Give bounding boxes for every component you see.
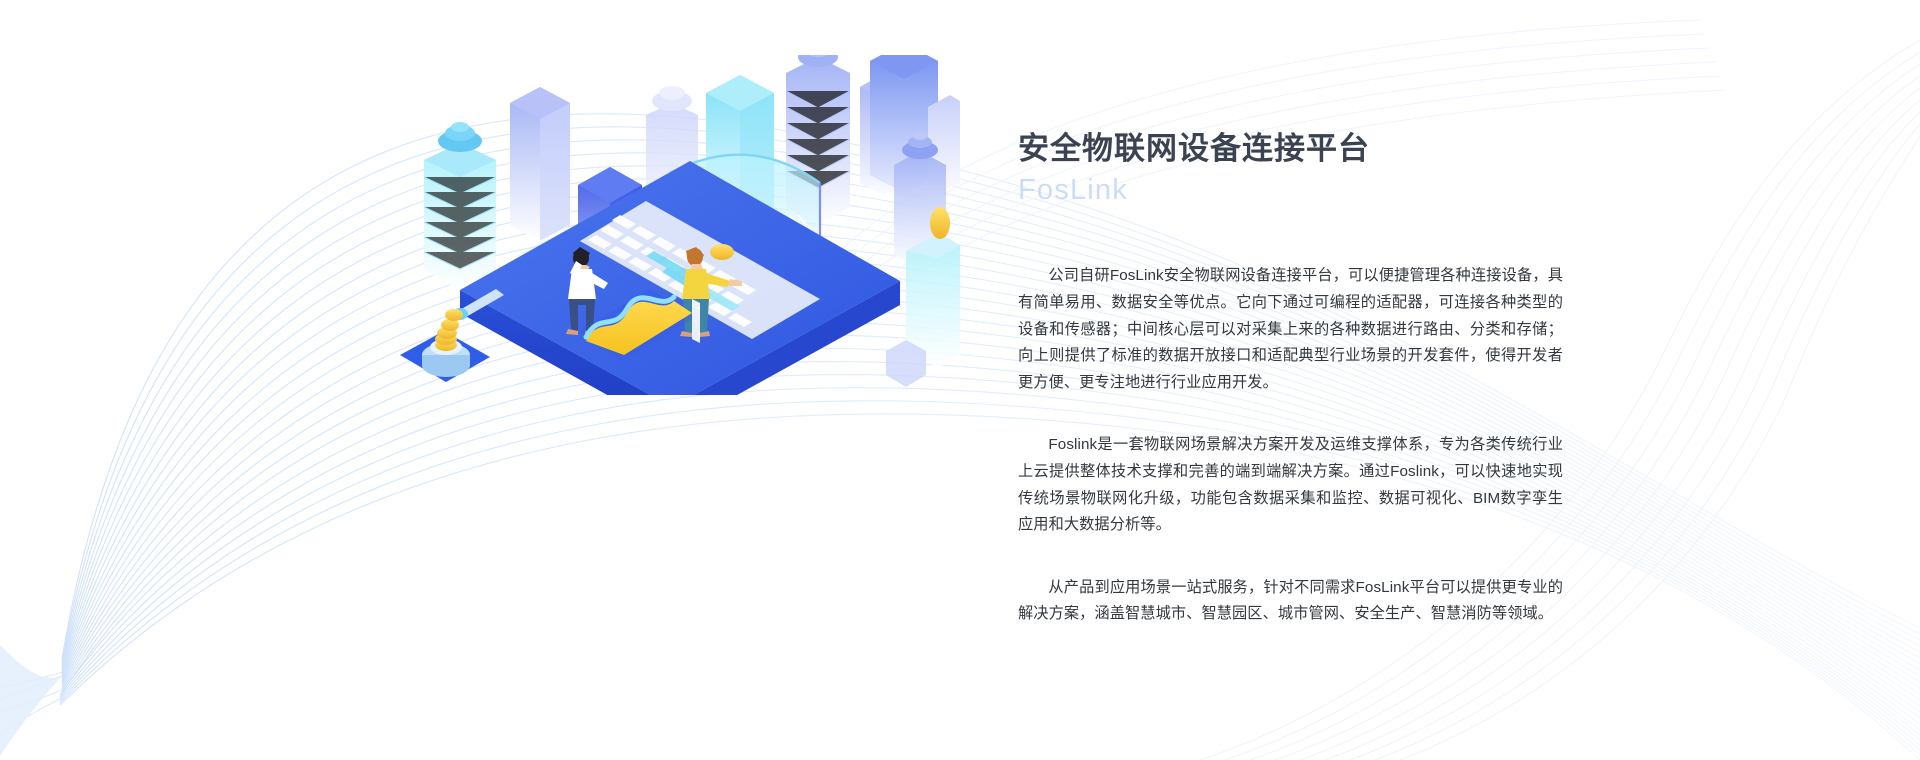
page-title: 安全物联网设备连接平台 (1018, 130, 1563, 169)
isometric-city-illustration (400, 55, 960, 395)
description-paragraph-2: Foslink是一套物联网场景解决方案开发及运维支撑体系，专为各类传统行业上云提… (1018, 432, 1563, 538)
description-paragraph-1: 公司自研FosLink安全物联网设备连接平台，可以便捷管理各种连接设备，具有简单… (1018, 263, 1563, 396)
background-wave-lines (0, 0, 1920, 760)
description-paragraph-3: 从产品到应用场景一站式服务，针对不同需求FosLink平台可以提供更专业的解决方… (1018, 575, 1563, 628)
page-subtitle: FosLink (1018, 172, 1563, 210)
tower-stepped-left (424, 122, 496, 291)
tower-slim-1 (510, 87, 570, 241)
content-column: 安全物联网设备连接平台 FosLink 公司自研FosLink安全物联网设备连接… (1018, 130, 1563, 628)
page-root: 安全物联网设备连接平台 FosLink 公司自研FosLink安全物联网设备连接… (0, 0, 1920, 760)
